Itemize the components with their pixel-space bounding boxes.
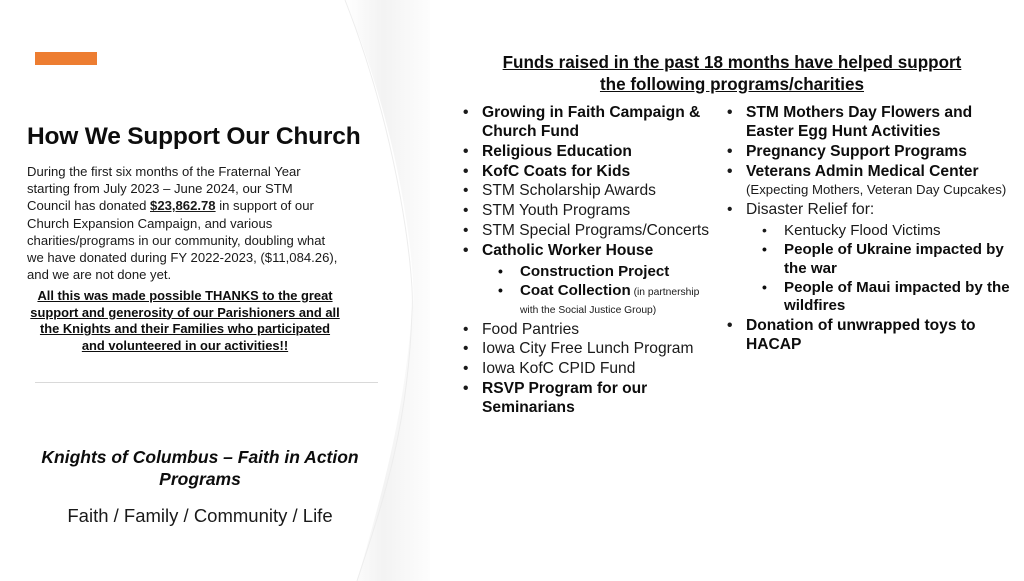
program-item-label: Iowa City Free Lunch Program — [482, 340, 693, 357]
program-item-label: Coat Collection — [520, 282, 631, 299]
bullet-icon: • — [463, 340, 468, 359]
bullet-icon: • — [498, 263, 503, 281]
orange-accent-bar — [35, 52, 97, 65]
bullet-icon: • — [727, 143, 732, 162]
program-item-label: Veterans Admin Medical Center — [746, 163, 979, 180]
program-sub-list-wrapper: •Kentucky Flood Victims•People of Ukrain… — [722, 222, 1022, 315]
programs-column-1: •Growing in Faith Campaign & Church Fund… — [458, 104, 716, 419]
program-item-label: Growing in Faith Campaign & Church Fund — [482, 104, 700, 140]
program-sub-list-wrapper: •Construction Project•Coat Collection (i… — [458, 263, 716, 319]
program-item-note: (Expecting Mothers, Veteran Day Cupcakes… — [746, 182, 1006, 197]
bullet-icon: • — [463, 104, 468, 123]
bullet-icon: • — [762, 241, 767, 259]
bullet-icon: • — [727, 317, 732, 336]
program-item: •STM Mothers Day Flowers and Easter Egg … — [722, 104, 1022, 142]
program-item-label: Religious Education — [482, 143, 632, 160]
bullet-icon: • — [463, 242, 468, 261]
bullet-icon: • — [463, 182, 468, 201]
program-item-label: STM Special Programs/Concerts — [482, 222, 709, 239]
program-item-label: STM Scholarship Awards — [482, 182, 656, 199]
bullet-icon: • — [463, 380, 468, 399]
program-item-label: RSVP Program for our Seminarians — [482, 380, 647, 416]
program-item: •Catholic Worker House — [458, 242, 716, 261]
right-panel: Funds raised in the past 18 months have … — [440, 0, 1024, 581]
program-item: •STM Scholarship Awards — [458, 182, 716, 201]
program-item-label: People of Maui impacted by the wildfires — [784, 279, 1010, 314]
bullet-icon: • — [463, 163, 468, 182]
bullet-icon: • — [727, 104, 732, 123]
thanks-message: All this was made possible THANKS to the… — [27, 288, 343, 355]
program-item: •Disaster Relief for: — [722, 201, 1022, 220]
page-title: How We Support Our Church — [27, 123, 387, 151]
program-item: •STM Youth Programs — [458, 202, 716, 221]
program-item: •Iowa KofC CPID Fund — [458, 360, 716, 379]
programs-list-2: •STM Mothers Day Flowers and Easter Egg … — [722, 104, 1022, 355]
program-item: •STM Special Programs/Concerts — [458, 222, 716, 241]
program-sub-item: •Coat Collection (in partnership with th… — [496, 282, 716, 319]
program-item-label: Food Pantries — [482, 321, 579, 338]
donated-amount: $23,862.78 — [150, 198, 216, 213]
programs-heading-line2: the following programs/charities — [600, 75, 864, 94]
program-item: •Food Pantries — [458, 321, 716, 340]
program-item-label: Kentucky Flood Victims — [784, 222, 941, 239]
thanks-message-text: All this was made possible THANKS to the… — [30, 288, 339, 353]
section-divider — [35, 382, 378, 383]
bullet-icon: • — [727, 163, 732, 182]
program-item-label: Catholic Worker House — [482, 242, 653, 259]
left-panel: How We Support Our Church During the fir… — [0, 0, 400, 581]
program-item: •KofC Coats for Kids — [458, 163, 716, 182]
program-item: •Religious Education — [458, 143, 716, 162]
program-item-label: People of Ukraine impacted by the war — [784, 241, 1004, 276]
program-item: •Iowa City Free Lunch Program — [458, 340, 716, 359]
program-item-label: STM Mothers Day Flowers and Easter Egg H… — [746, 104, 972, 140]
program-item-label: Donation of unwrapped toys to HACAP — [746, 317, 976, 353]
program-sub-list: •Kentucky Flood Victims•People of Ukrain… — [722, 222, 1022, 315]
program-sub-item: •People of Maui impacted by the wildfire… — [760, 279, 1022, 316]
program-item-label: KofC Coats for Kids — [482, 163, 630, 180]
slide-canvas: How We Support Our Church During the fir… — [0, 0, 1024, 581]
bullet-icon: • — [498, 282, 503, 300]
programs-list-1: •Growing in Faith Campaign & Church Fund… — [458, 104, 716, 418]
program-item: •Donation of unwrapped toys to HACAP — [722, 317, 1022, 355]
program-item: •Growing in Faith Campaign & Church Fund — [458, 104, 716, 142]
bullet-icon: • — [463, 321, 468, 340]
program-item-label: Pregnancy Support Programs — [746, 143, 967, 160]
bullet-icon: • — [463, 143, 468, 162]
program-sub-list: •Construction Project•Coat Collection (i… — [458, 263, 716, 319]
programs-heading: Funds raised in the past 18 months have … — [454, 52, 1010, 95]
intro-paragraph: During the first six months of the Frate… — [27, 163, 339, 283]
programs-heading-line1: Funds raised in the past 18 months have … — [503, 53, 962, 72]
bullet-icon: • — [762, 222, 767, 240]
bullet-icon: • — [463, 222, 468, 241]
bullet-icon: • — [727, 201, 732, 220]
bullet-icon: • — [463, 202, 468, 221]
program-item-label: Disaster Relief for: — [746, 201, 874, 218]
program-item-label: Construction Project — [520, 263, 669, 280]
program-item-label: Iowa KofC CPID Fund — [482, 360, 635, 377]
program-item: •Pregnancy Support Programs — [722, 143, 1022, 162]
program-sub-item: •People of Ukraine impacted by the war — [760, 241, 1022, 278]
program-item-label: STM Youth Programs — [482, 202, 630, 219]
program-sub-item: •Kentucky Flood Victims — [760, 222, 1022, 240]
bullet-icon: • — [762, 279, 767, 297]
program-item: •RSVP Program for our Seminarians — [458, 380, 716, 418]
programs-column-2: •STM Mothers Day Flowers and Easter Egg … — [722, 104, 1022, 356]
bullet-icon: • — [463, 360, 468, 379]
program-sub-item: •Construction Project — [496, 263, 716, 281]
program-item: •Veterans Admin Medical Center (Expectin… — [722, 163, 1022, 201]
koc-program-title: Knights of Columbus – Faith in Action Pr… — [20, 446, 380, 492]
koc-program-pillars: Faith / Family / Community / Life — [20, 504, 380, 528]
